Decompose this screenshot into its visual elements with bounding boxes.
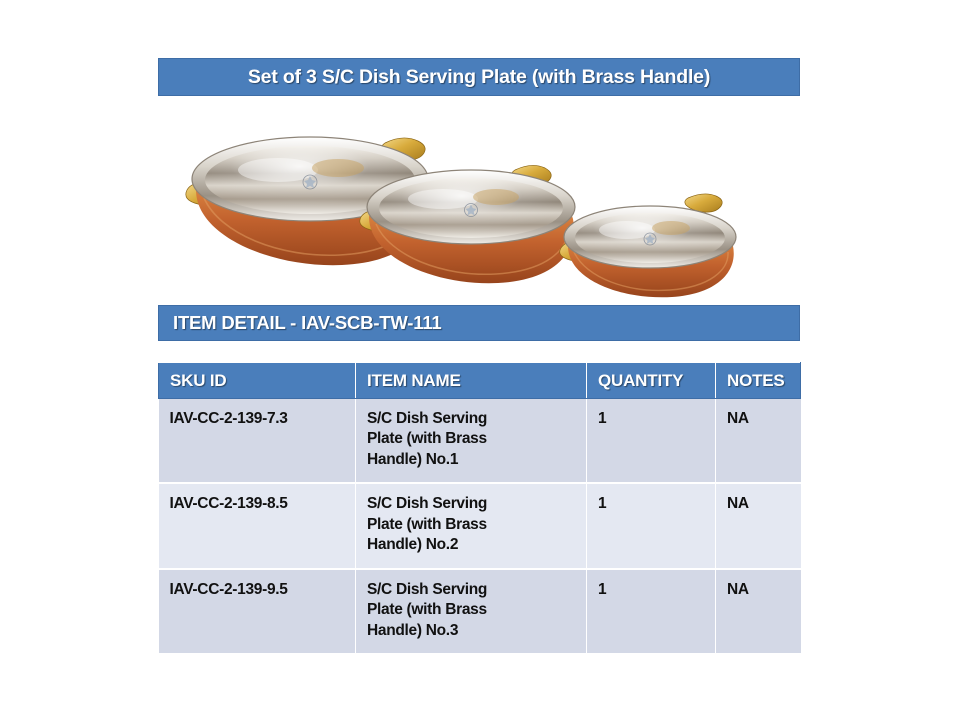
cell-sku-id: IAV-CC-2-139-9.5 xyxy=(159,569,356,653)
item-name-line: Plate (with Brass xyxy=(367,429,578,449)
cell-item-name: S/C Dish Serving Plate (with Brass Handl… xyxy=(356,399,587,484)
cell-quantity: 1 xyxy=(587,399,716,484)
cell-notes: NA xyxy=(716,569,801,653)
column-header-notes: NOTES xyxy=(716,363,801,399)
cell-quantity: 1 xyxy=(587,483,716,568)
item-name-line: Plate (with Brass xyxy=(367,600,578,620)
item-detail-text: ITEM DETAIL - IAV-SCB-TW-111 xyxy=(159,312,441,334)
cell-quantity: 1 xyxy=(587,569,716,653)
cell-notes: NA xyxy=(716,399,801,484)
cell-notes: NA xyxy=(716,483,801,568)
product-photo-illustration xyxy=(160,118,800,300)
item-name-line: Handle) No.1 xyxy=(367,450,578,470)
product-title-text: Set of 3 S/C Dish Serving Plate (with Br… xyxy=(248,66,710,89)
table-header-row: SKU ID ITEM NAME QUANTITY NOTES xyxy=(159,363,801,399)
column-header-item-name: ITEM NAME xyxy=(356,363,587,399)
dish-medium xyxy=(360,165,575,283)
dish-small xyxy=(560,194,736,297)
item-name-line: Handle) No.2 xyxy=(367,535,578,555)
column-header-sku-id: SKU ID xyxy=(159,363,356,399)
item-name-line: Plate (with Brass xyxy=(367,515,578,535)
item-detail-banner: ITEM DETAIL - IAV-SCB-TW-111 xyxy=(158,305,800,341)
column-header-quantity: QUANTITY xyxy=(587,363,716,399)
item-detail-table: SKU ID ITEM NAME QUANTITY NOTES IAV-CC-2… xyxy=(158,362,801,653)
cell-sku-id: IAV-CC-2-139-7.3 xyxy=(159,399,356,484)
item-name-line: S/C Dish Serving xyxy=(367,580,578,600)
item-name-line: Handle) No.3 xyxy=(367,621,578,641)
table-header: SKU ID ITEM NAME QUANTITY NOTES xyxy=(159,363,801,399)
product-title-banner: Set of 3 S/C Dish Serving Plate (with Br… xyxy=(158,58,800,96)
cell-item-name: S/C Dish Serving Plate (with Brass Handl… xyxy=(356,483,587,568)
table-row: IAV-CC-2-139-8.5 S/C Dish Serving Plate … xyxy=(159,483,801,568)
table-row: IAV-CC-2-139-9.5 S/C Dish Serving Plate … xyxy=(159,569,801,653)
table-row: IAV-CC-2-139-7.3 S/C Dish Serving Plate … xyxy=(159,399,801,484)
slide-canvas: Set of 3 S/C Dish Serving Plate (with Br… xyxy=(0,0,960,720)
item-name-line: S/C Dish Serving xyxy=(367,409,578,429)
product-photo xyxy=(160,118,800,300)
cell-sku-id: IAV-CC-2-139-8.5 xyxy=(159,483,356,568)
table-body: IAV-CC-2-139-7.3 S/C Dish Serving Plate … xyxy=(159,399,801,654)
item-name-line: S/C Dish Serving xyxy=(367,494,578,514)
cell-item-name: S/C Dish Serving Plate (with Brass Handl… xyxy=(356,569,587,653)
